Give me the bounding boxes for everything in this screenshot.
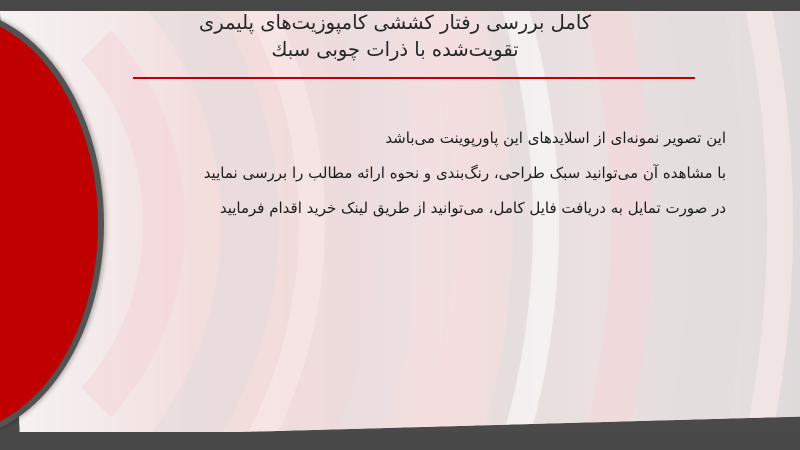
slide-body-line-3: در صورت تمایل به دریافت فایل کامل، می‌تو… <box>86 191 726 226</box>
top-frame-band <box>0 0 800 11</box>
presentation-slide: کامل بررسی رفتار کششی کامپوزیت‌های پلیمر… <box>0 0 800 450</box>
bottom-frame-band <box>0 432 800 450</box>
slide-title-line-1: کامل بررسی رفتار کششی کامپوزیت‌های پلیمر… <box>95 9 695 36</box>
slide-title: کامل بررسی رفتار کششی کامپوزیت‌های پلیمر… <box>95 9 695 63</box>
slide-body-text: این تصویر نمونه‌ای از اسلایدهای این پاور… <box>86 121 726 226</box>
slide-title-line-2: تقویت‌شده با ذرات چوبی سبك <box>95 36 695 63</box>
slide-body-line-1: این تصویر نمونه‌ای از اسلایدهای این پاور… <box>86 121 726 156</box>
slide-body-line-2: با مشاهده آن می‌توانید سبک طراحی، رنگ‌بن… <box>86 156 726 191</box>
title-underline-rule <box>133 77 695 79</box>
